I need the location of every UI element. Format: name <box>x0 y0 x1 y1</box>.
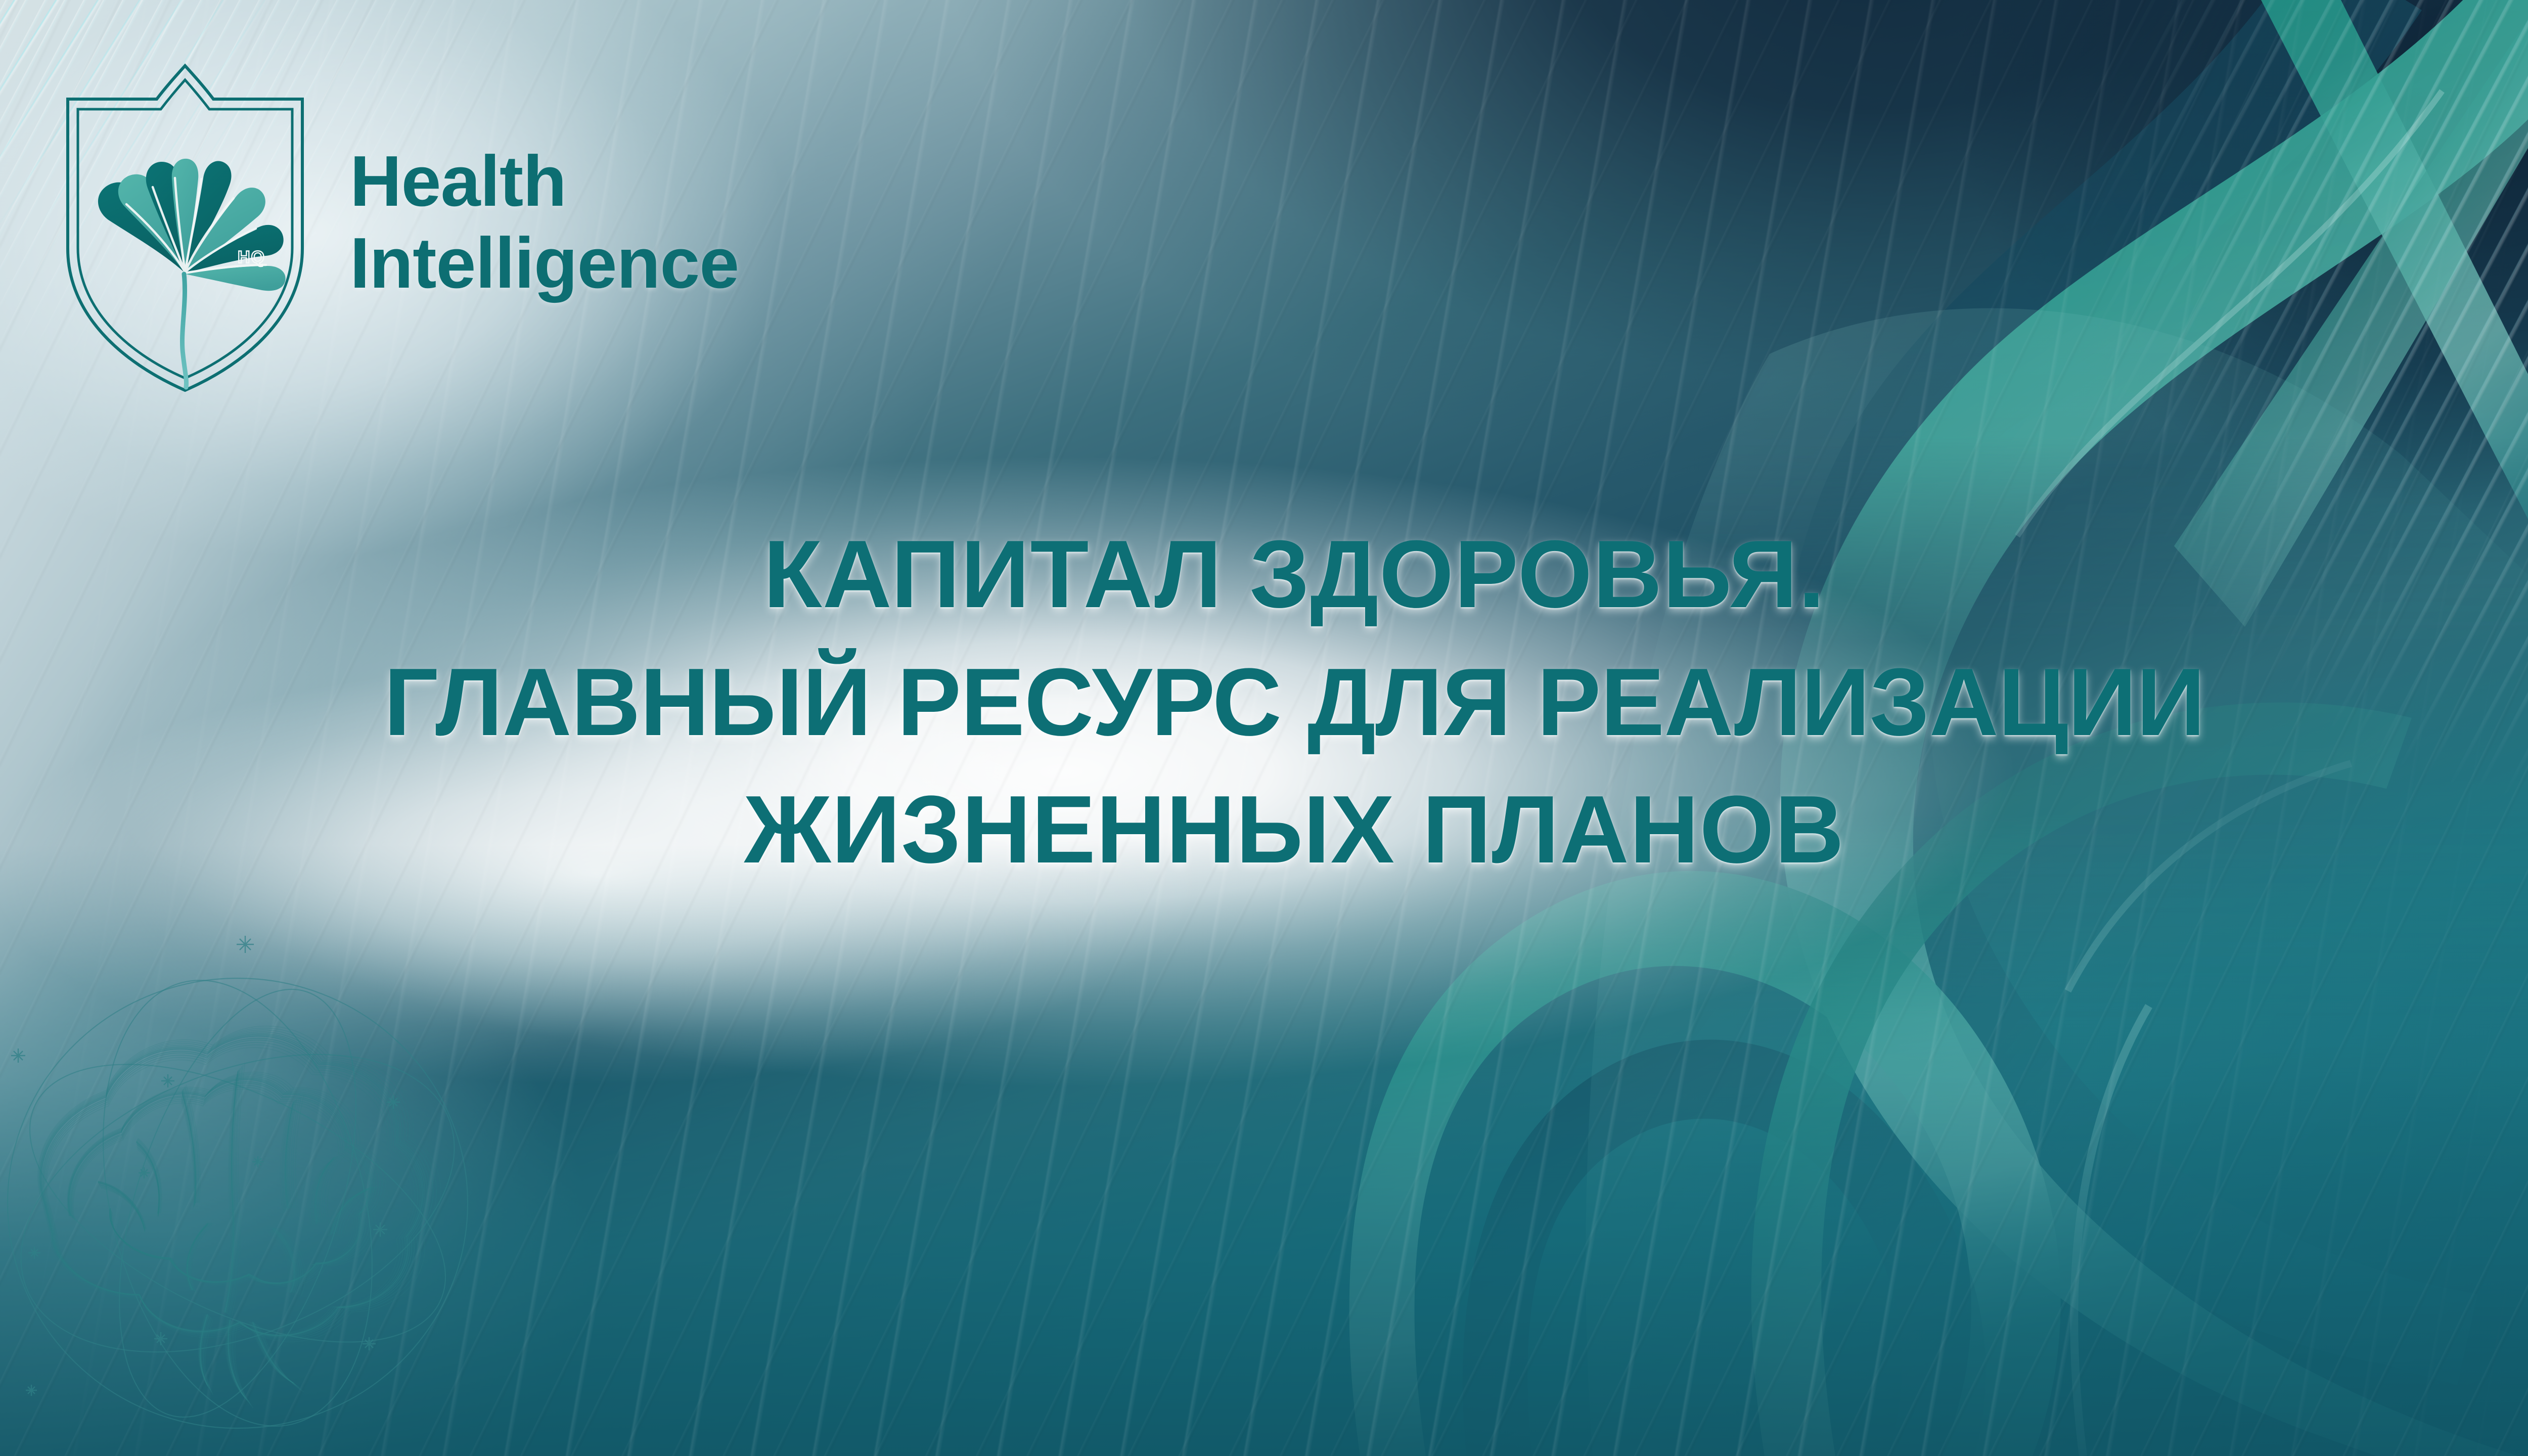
title-line-1: КАПИТАЛ ЗДОРОВЬЯ. <box>0 511 2528 639</box>
title-slide: HQ HealthIntelligence КАПИТАЛ ЗДОРОВЬЯ. … <box>0 0 2528 1456</box>
brand-name: HealthIntelligence <box>350 141 739 304</box>
brand-name-line2: Intelligence <box>350 223 739 303</box>
page-title: КАПИТАЛ ЗДОРОВЬЯ. ГЛАВНЫЙ РЕСУРС ДЛЯ РЕА… <box>0 511 2528 894</box>
title-line-2: ГЛАВНЫЙ РЕСУРС ДЛЯ РЕАЛИЗАЦИИ <box>0 639 2528 766</box>
shield-ginkgo-leaf-emblem: HQ <box>60 51 310 394</box>
hq-monogram: HQ <box>238 248 265 267</box>
title-line-3: ЖИЗНЕННЫХ ПЛАНОВ <box>0 766 2528 894</box>
brand-logo: HQ HealthIntelligence <box>60 51 739 394</box>
brand-name-line1: Health <box>350 141 566 221</box>
